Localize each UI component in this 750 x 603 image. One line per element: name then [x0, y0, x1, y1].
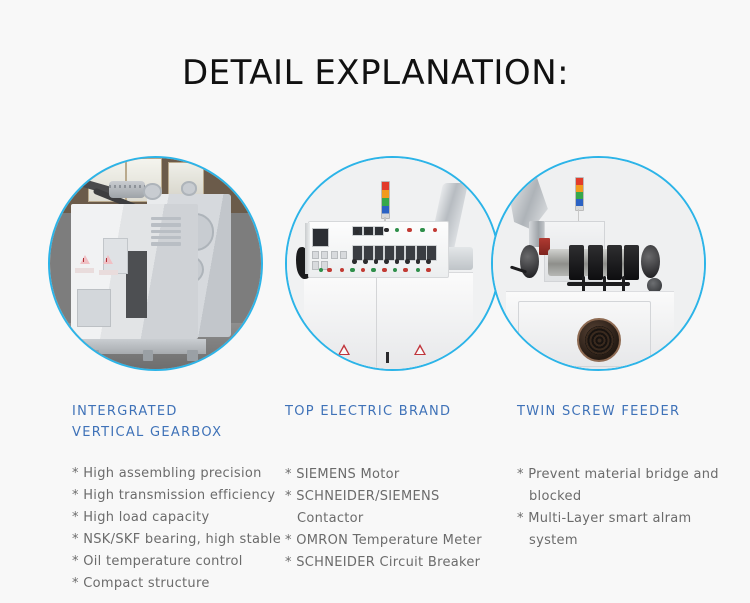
stack-light-icon: [575, 177, 584, 211]
barrel-flange-right: [641, 245, 660, 279]
gearbox-label-2: [99, 270, 118, 275]
panel-switch-5[interactable]: [331, 251, 338, 259]
column-heading-line-2: VERTICAL GEARBOX: [72, 422, 282, 443]
list-item: * Multi-Layer smart alram system: [517, 508, 722, 552]
list-item: * SCHNEIDER/SIEMENS Contactor: [285, 486, 510, 530]
gearbox-motor: [109, 181, 145, 198]
panel-indicator-red-1: [407, 228, 412, 233]
detail-column-twin-screw-feeder: TWIN SCREW FEEDER * Prevent material bri…: [517, 401, 722, 552]
gearbox-fin-4: [151, 236, 181, 239]
product-image-intergrated-vertical-gearbox: [48, 156, 263, 371]
heater-band-1: [569, 245, 584, 281]
column-heading-line-1: TWIN SCREW FEEDER: [517, 401, 722, 422]
stack-light-icon: [381, 181, 391, 219]
gearbox-foot-right: [187, 350, 198, 361]
temperature-meter-top-3: [374, 226, 385, 236]
panel-switch-6[interactable]: [340, 251, 347, 259]
column-heading-twin-screw-feeder: TWIN SCREW FEEDER: [517, 401, 722, 422]
list-item: * High assembling precision: [72, 463, 282, 485]
feature-list-twin-screw-feeder: * Prevent material bridge and blocked * …: [517, 464, 722, 552]
warning-triangle-icon: [414, 344, 426, 355]
hmi-screen[interactable]: [312, 228, 329, 247]
panel-button-row2-1[interactable]: [352, 259, 357, 264]
panel-button-row2-2[interactable]: [363, 259, 368, 264]
gearbox-label-1: [75, 268, 94, 273]
list-item: * High transmission efficiency: [72, 485, 282, 507]
gearbox-cap-left: [143, 183, 162, 200]
panel-button-row2-8[interactable]: [426, 259, 431, 264]
panel-button-row2-3[interactable]: [374, 259, 379, 264]
feature-list-gearbox: * High assembling precision * High trans…: [72, 463, 282, 595]
column-heading-line-1: TOP ELECTRIC BRAND: [285, 401, 510, 422]
panel-button-row2-5[interactable]: [395, 259, 400, 264]
list-item: * High load capacity: [72, 507, 282, 529]
cable-tray: [567, 282, 630, 285]
panel-indicator-2: [365, 230, 370, 235]
twin-screw-feeder-photo: [493, 158, 704, 369]
gearbox-cap-right: [181, 181, 198, 196]
cabinet-door-seam: [376, 276, 377, 369]
panel-button-row2-4[interactable]: [384, 259, 389, 264]
gearbox-dark-slot: [126, 251, 147, 319]
warning-triangle-icon: [338, 344, 350, 355]
electric-panel-photo: [287, 158, 498, 369]
detail-column-gearbox: INTERGRATED VERTICAL GEARBOX * High asse…: [72, 401, 282, 595]
list-item: * Oil temperature control: [72, 551, 282, 573]
column-heading-electric-brand: TOP ELECTRIC BRAND: [285, 401, 510, 422]
control-panel-side: [305, 223, 310, 274]
panel-indicator-green-2: [420, 228, 425, 233]
page-title: DETAIL EXPLANATION:: [182, 53, 569, 93]
gearbox-foot-left: [88, 350, 99, 361]
gearbox-fin-1: [151, 217, 181, 220]
list-item: * NSK/SKF bearing, high stable: [72, 529, 282, 551]
product-image-top-electric-brand: [285, 156, 500, 371]
panel-indicator-3: [384, 228, 389, 233]
gearbox-foot-mid: [143, 350, 154, 361]
panel-button-row2-6[interactable]: [405, 259, 410, 264]
gearbox-lower-panel: [77, 289, 111, 327]
warning-triangle-icon: [103, 255, 113, 264]
panel-button-row3-5[interactable]: [382, 268, 387, 273]
panel-switch-1[interactable]: [312, 251, 319, 259]
gearbox-photo: [50, 158, 261, 369]
heater-band-3: [607, 245, 622, 281]
gearbox-fin-5: [151, 242, 181, 245]
list-item: * SCHNEIDER Circuit Breaker: [285, 552, 510, 574]
heater-band-2: [588, 245, 603, 281]
list-item: * SIEMENS Motor: [285, 464, 510, 486]
panel-button-row3-7[interactable]: [403, 268, 408, 273]
panel-switch-2[interactable]: [321, 251, 328, 259]
list-item: * Prevent material bridge and blocked: [517, 464, 722, 508]
warning-triangle-icon: [80, 255, 90, 264]
feature-list-electric-brand: * SIEMENS Motor * SCHNEIDER/SIEMENS Cont…: [285, 464, 510, 574]
column-heading-line-1: INTERGRATED: [72, 401, 282, 422]
list-item: * OMRON Temperature Meter: [285, 530, 510, 552]
column-heading-gearbox: INTERGRATED VERTICAL GEARBOX: [72, 401, 282, 443]
detail-column-electric-brand: TOP ELECTRIC BRAND * SIEMENS Motor * SCH…: [285, 401, 510, 574]
panel-stop-button[interactable]: [327, 268, 332, 273]
product-image-twin-screw-feeder: [491, 156, 706, 371]
detail-explanation-page: DETAIL EXPLANATION:: [0, 0, 750, 603]
gearbox-fin-3: [151, 230, 181, 233]
cabinet-handle: [386, 352, 389, 363]
heater-band-4: [624, 245, 639, 281]
gearbox-fin-2: [151, 223, 181, 226]
list-item: * Compact structure: [72, 573, 282, 595]
